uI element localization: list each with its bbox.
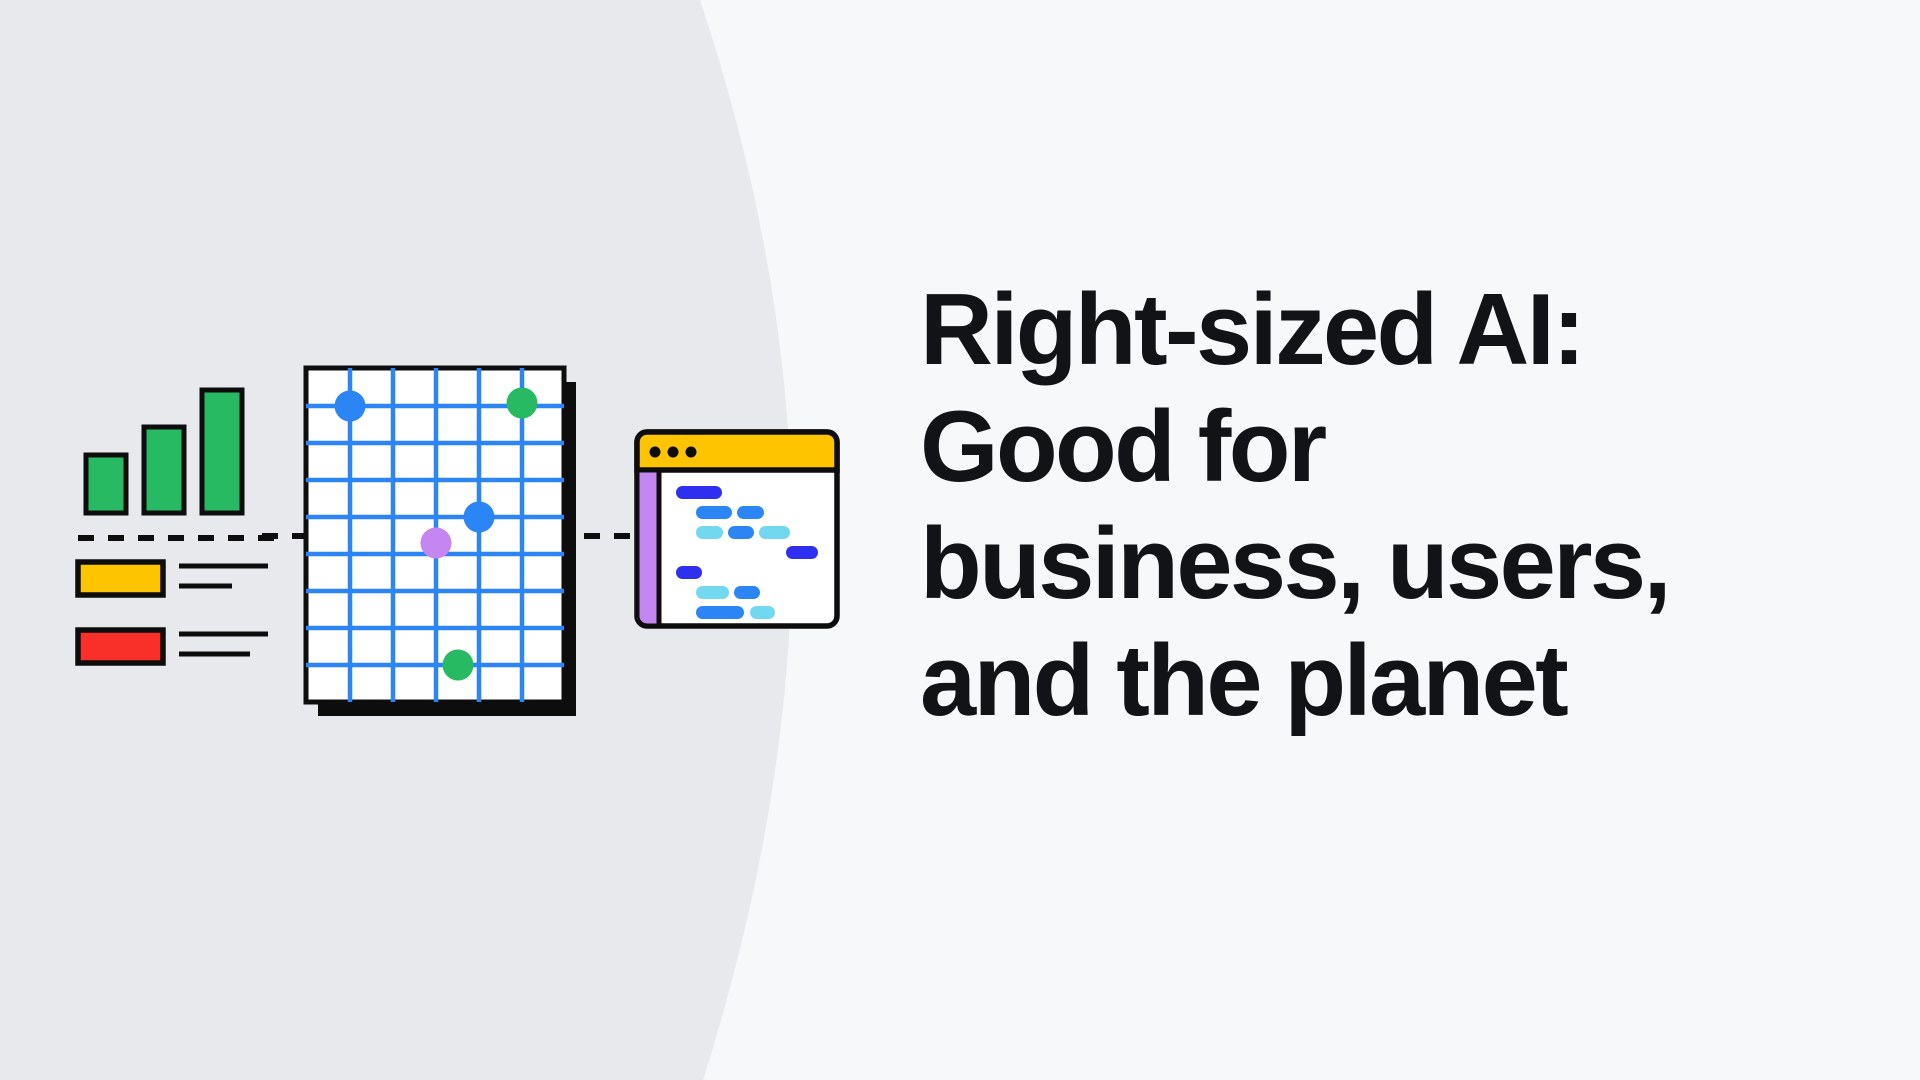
- headline-line-4: and the planet: [920, 623, 1800, 740]
- code-window-titlebar: [637, 432, 837, 470]
- code-pill: [676, 486, 722, 499]
- hero-banner: Right-sized AI: Good for business, users…: [0, 0, 1920, 1080]
- code-window-sidebar: [637, 470, 659, 626]
- code-pill: [734, 586, 760, 599]
- code-window-dots[interactable]: [650, 447, 697, 458]
- code-pill: [696, 526, 723, 539]
- headline-line-1: Right-sized AI:: [920, 272, 1800, 389]
- ai-efficiency-illustration: [0, 0, 900, 1080]
- legend-row-red: [78, 630, 268, 663]
- point-green-1: [507, 388, 538, 419]
- point-green-2: [443, 650, 474, 681]
- legend-row-yellow: [78, 562, 268, 595]
- legend-swatch-red: [78, 630, 163, 663]
- point-purple-1: [421, 528, 452, 559]
- headline-line-2: Good for: [920, 389, 1800, 506]
- growth-bar-2: [144, 427, 184, 513]
- code-pill: [696, 606, 744, 619]
- code-pill: [696, 506, 732, 519]
- code-pill: [737, 506, 764, 519]
- headline-line-3: business, users,: [920, 506, 1800, 623]
- window-dot-3-icon[interactable]: [686, 447, 697, 458]
- code-pill: [676, 566, 702, 579]
- code-pill: [696, 586, 729, 599]
- data-grid-card: [306, 368, 576, 716]
- growth-bar-chart: [86, 390, 242, 513]
- code-pill: [759, 526, 790, 539]
- code-pill: [728, 526, 754, 539]
- growth-bar-1: [86, 455, 126, 513]
- code-pill: [750, 606, 775, 619]
- window-dot-1-icon[interactable]: [650, 447, 661, 458]
- code-pill: [786, 546, 818, 559]
- window-dot-2-icon[interactable]: [668, 447, 679, 458]
- headline-block: Right-sized AI: Good for business, users…: [920, 272, 1800, 741]
- growth-bar-3: [202, 390, 242, 513]
- code-window: [637, 432, 837, 626]
- point-blue-2: [464, 502, 495, 533]
- legend-swatch-yellow: [78, 562, 163, 595]
- point-blue-1: [335, 391, 366, 422]
- page-title: Right-sized AI: Good for business, users…: [920, 272, 1800, 741]
